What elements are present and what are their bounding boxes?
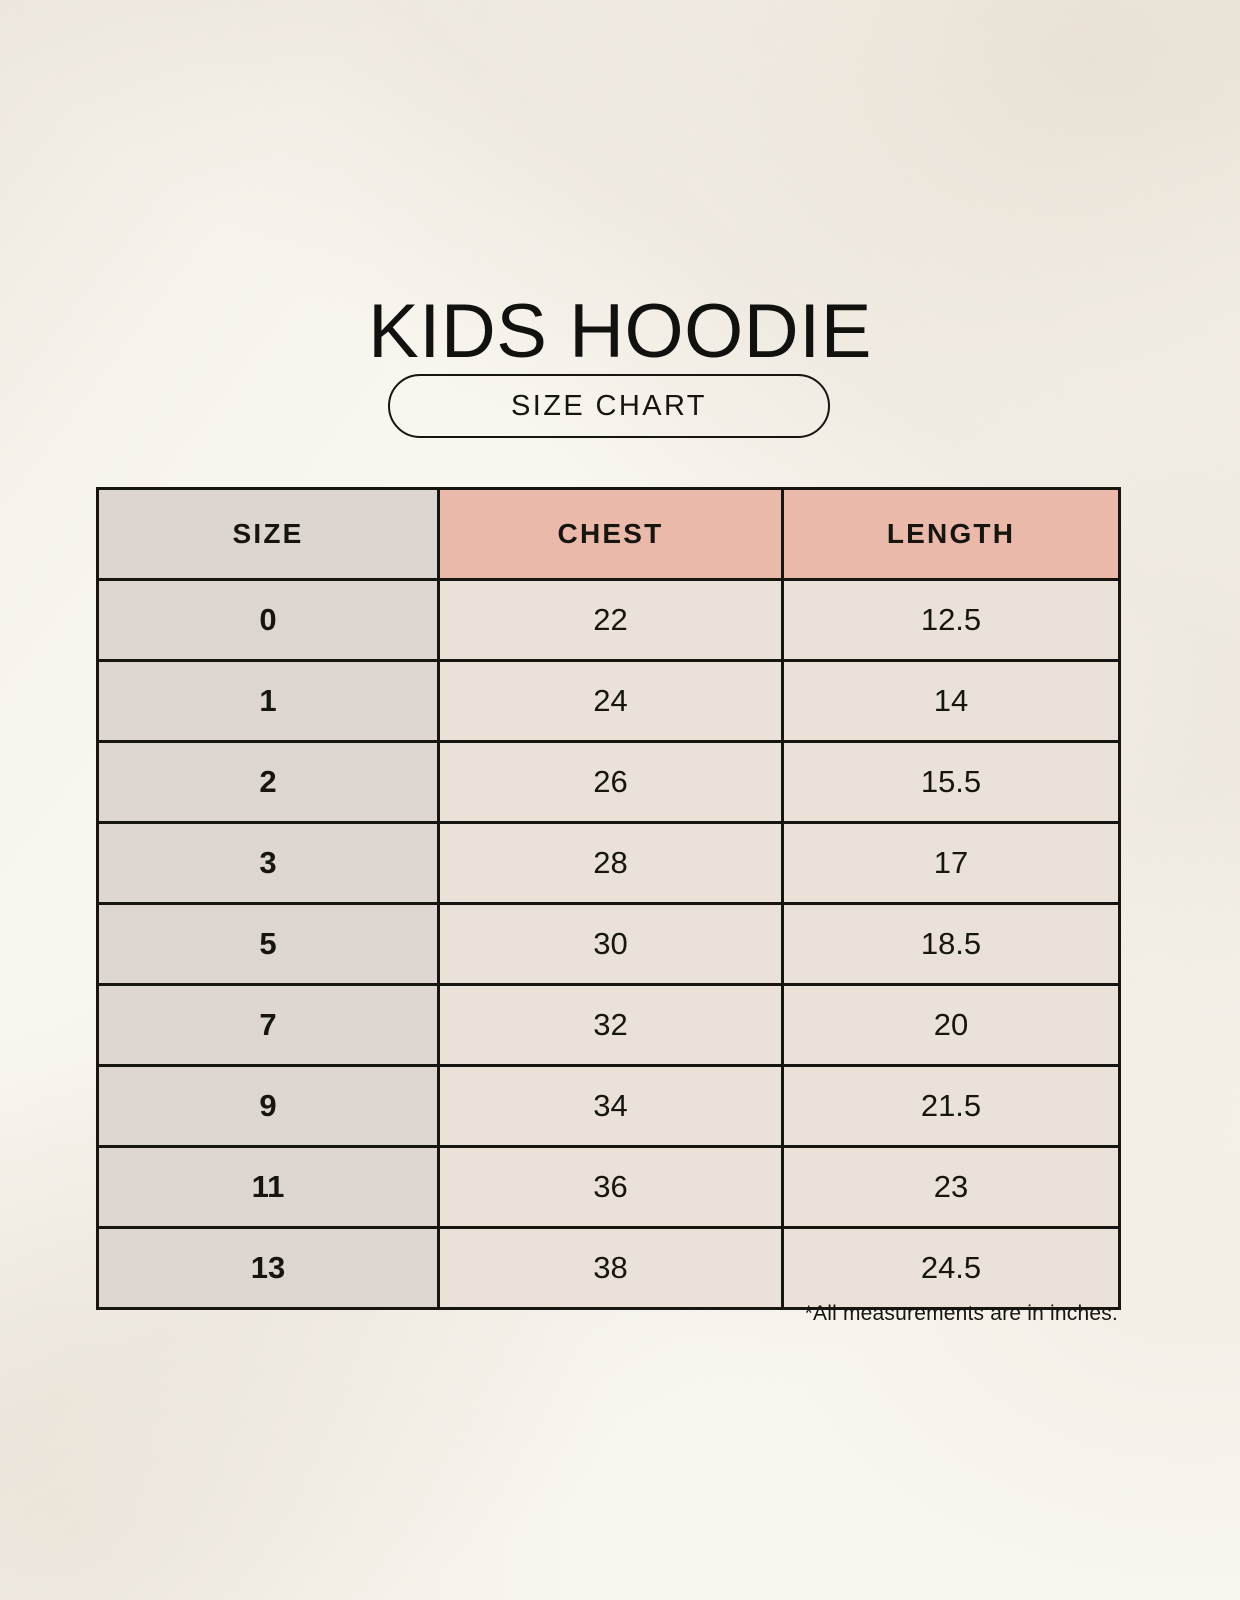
- cell-chest: 34: [439, 1066, 783, 1147]
- size-chart-badge: SIZE CHART: [388, 374, 830, 438]
- cell-size: 0: [98, 580, 439, 661]
- table-row: 5 30 18.5: [98, 904, 1120, 985]
- cell-length: 15.5: [783, 742, 1120, 823]
- column-header-size: SIZE: [98, 489, 439, 580]
- cell-chest: 22: [439, 580, 783, 661]
- cell-chest: 28: [439, 823, 783, 904]
- table-row: 3 28 17: [98, 823, 1120, 904]
- cell-size: 13: [98, 1228, 439, 1309]
- size-table-body: 0 22 12.5 1 24 14 2 26 15.5 3 28 17: [98, 580, 1120, 1309]
- size-chart-page: KIDS HOODIE SIZE CHART SIZE CHEST LENGTH…: [0, 0, 1240, 1600]
- cell-length: 23: [783, 1147, 1120, 1228]
- cell-size: 1: [98, 661, 439, 742]
- cell-chest: 36: [439, 1147, 783, 1228]
- size-table-header: SIZE CHEST LENGTH: [98, 489, 1120, 580]
- measurements-footnote: *All measurements are in inches.: [805, 1302, 1118, 1326]
- cell-size: 7: [98, 985, 439, 1066]
- cell-length: 21.5: [783, 1066, 1120, 1147]
- table-row: 9 34 21.5: [98, 1066, 1120, 1147]
- cell-chest: 30: [439, 904, 783, 985]
- table-row: 11 36 23: [98, 1147, 1120, 1228]
- cell-chest: 38: [439, 1228, 783, 1309]
- size-chart-badge-label: SIZE CHART: [511, 390, 707, 423]
- cell-length: 20: [783, 985, 1120, 1066]
- table-row: 2 26 15.5: [98, 742, 1120, 823]
- cell-length: 12.5: [783, 580, 1120, 661]
- table-row: 7 32 20: [98, 985, 1120, 1066]
- cell-size: 9: [98, 1066, 439, 1147]
- table-row: 1 24 14: [98, 661, 1120, 742]
- table-row: 13 38 24.5: [98, 1228, 1120, 1309]
- cell-chest: 32: [439, 985, 783, 1066]
- cell-size: 2: [98, 742, 439, 823]
- cell-length: 18.5: [783, 904, 1120, 985]
- table-row: 0 22 12.5: [98, 580, 1120, 661]
- size-table: SIZE CHEST LENGTH 0 22 12.5 1 24 14 2: [96, 487, 1121, 1310]
- cell-chest: 26: [439, 742, 783, 823]
- table-header-row: SIZE CHEST LENGTH: [98, 489, 1120, 580]
- cell-size: 3: [98, 823, 439, 904]
- cell-chest: 24: [439, 661, 783, 742]
- size-table-container: SIZE CHEST LENGTH 0 22 12.5 1 24 14 2: [96, 487, 1118, 1310]
- column-header-length: LENGTH: [783, 489, 1120, 580]
- page-title: KIDS HOODIE: [0, 294, 1240, 370]
- cell-size: 11: [98, 1147, 439, 1228]
- column-header-chest: CHEST: [439, 489, 783, 580]
- cell-size: 5: [98, 904, 439, 985]
- cell-length: 24.5: [783, 1228, 1120, 1309]
- cell-length: 14: [783, 661, 1120, 742]
- cell-length: 17: [783, 823, 1120, 904]
